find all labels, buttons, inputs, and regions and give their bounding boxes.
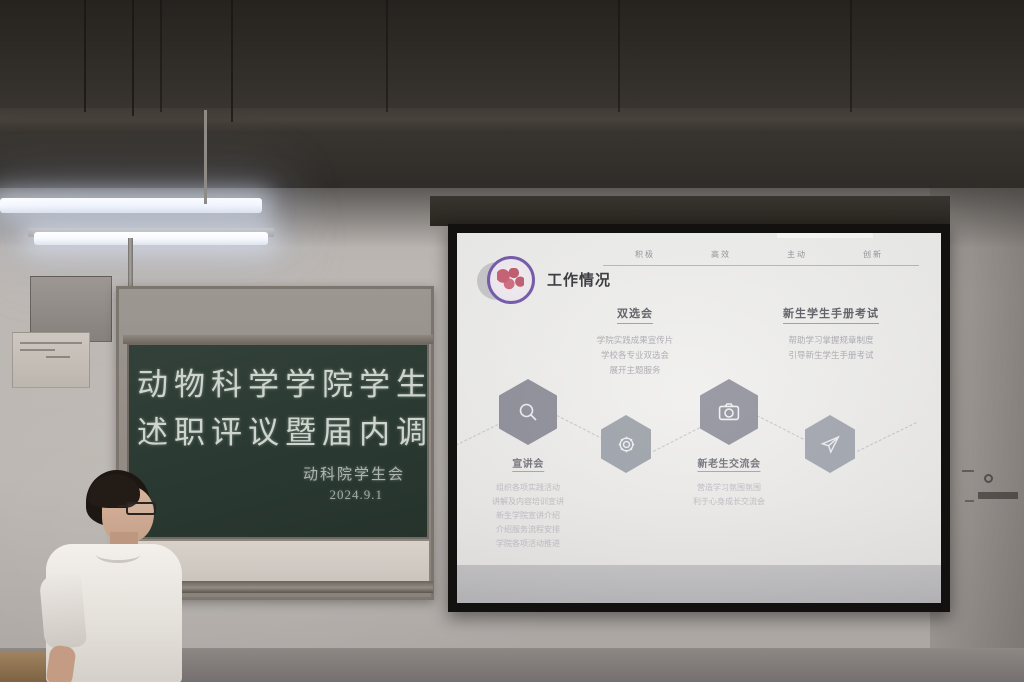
column-line: 学院实践成果宣传片 — [597, 333, 674, 348]
column-line: 引导新生学生手册考试 — [788, 348, 873, 363]
blackboard-line-1: 动物科学学院学生会 — [137, 359, 429, 404]
projected-slide: 工作情况 积极 高效 主动 创新 双选会 学院实践成果宣传片 学校各专业双选会 … — [457, 233, 941, 603]
ceiling-seam — [160, 0, 162, 112]
column-heading-right: 新生学生手册考试 — [783, 305, 879, 324]
column-body-right: 帮助学习掌握规章制度 引导新生学生手册考试 — [788, 333, 873, 363]
slide-header-rule — [603, 265, 919, 266]
bottom-body-left: 组织各项实践活动 讲解及内容培训宣讲 新生学院宣讲介绍 介绍服务流程安排 学院各… — [492, 481, 564, 551]
slide-bottom-band — [457, 565, 941, 603]
bottom-line: 学院各项活动推进 — [492, 537, 564, 551]
flow-connector — [857, 422, 917, 452]
top-tag: 主动 — [787, 249, 807, 260]
wall-paper-notice — [12, 332, 90, 388]
bottom-line: 利于心身成长交流会 — [693, 495, 765, 509]
sign-label — [978, 492, 1018, 499]
wall-mark — [962, 470, 974, 472]
top-tag: 高效 — [711, 249, 731, 260]
slide-title: 工作情况 — [547, 269, 611, 290]
screen-mount-bar — [430, 196, 950, 226]
bottom-line: 组织各项实践活动 — [492, 481, 564, 495]
slide-top-tags: 积极 高效 主动 创新 — [607, 249, 901, 260]
blackboard-signature: 动科院学生会 — [303, 463, 405, 484]
glasses-icon — [126, 502, 156, 515]
person-collar — [96, 546, 140, 563]
sign-circle-icon — [984, 474, 993, 483]
hexagon-label-right: 新老生交流会 — [698, 455, 761, 472]
ceiling-seam — [386, 0, 388, 112]
person-sleeve — [39, 572, 87, 649]
ceiling-seam — [618, 0, 620, 112]
camera-icon — [700, 379, 758, 445]
flow-connector — [757, 415, 813, 444]
classroom-scene: 动物科学学院学生会 述职评议暨届内调整大会 动科院学生会 2024.9.1 工作… — [0, 0, 1024, 682]
gear-icon — [601, 415, 651, 473]
ceiling — [0, 0, 1024, 196]
notice-text-line — [20, 342, 82, 344]
bottom-line: 介绍服务流程安排 — [492, 523, 564, 537]
wall-sign — [978, 488, 1020, 510]
ceiling-seam — [850, 0, 852, 112]
notice-text-line — [46, 356, 70, 358]
hexagon-label-left: 宣讲会 — [512, 455, 544, 472]
ceiling-beam — [0, 108, 1024, 134]
ceiling-wire — [84, 0, 86, 112]
bottom-body-right: 营造学习氛围氛围 利于心身成长交流会 — [693, 481, 765, 509]
top-tag: 积极 — [635, 249, 655, 260]
lamp-suspension-rod — [204, 110, 207, 204]
glasses-arm — [118, 505, 128, 507]
ceiling-wire — [231, 0, 233, 122]
notice-text-line — [20, 349, 55, 351]
column-line: 帮助学习掌握规章制度 — [788, 333, 873, 348]
fluorescent-tube-upper — [0, 198, 262, 213]
bottom-line: 讲解及内容培训宣讲 — [492, 495, 564, 509]
magnifier-icon — [499, 379, 557, 445]
projection-screen: 工作情况 积极 高效 主动 创新 双选会 学院实践成果宣传片 学校各专业双选会 … — [448, 224, 950, 612]
paper-plane-icon — [805, 415, 855, 473]
top-tag: 创新 — [863, 249, 883, 260]
wall-mark — [965, 500, 974, 502]
bottom-line: 新生学院宣讲介绍 — [492, 509, 564, 523]
blackboard-line-2: 述职评议暨届内调整大会 — [137, 407, 429, 452]
ceiling-wire — [132, 0, 134, 116]
column-line: 学校各专业双选会 — [597, 348, 674, 363]
blackboard-date: 2024.9.1 — [330, 487, 384, 503]
slide-content: 工作情况 积极 高效 主动 创新 双选会 学院实践成果宣传片 学校各专业双选会 … — [457, 233, 941, 603]
standing-person — [34, 470, 204, 682]
student-union-emblem — [485, 255, 537, 307]
bottom-line: 营造学习氛围氛围 — [693, 481, 765, 495]
person-arm — [45, 644, 76, 682]
column-body-left: 学院实践成果宣传片 学校各专业双选会 展开主题服务 — [597, 333, 674, 378]
column-heading-left: 双选会 — [617, 305, 653, 324]
fluorescent-tube-lower — [34, 232, 268, 245]
emblem-ring — [487, 256, 535, 304]
